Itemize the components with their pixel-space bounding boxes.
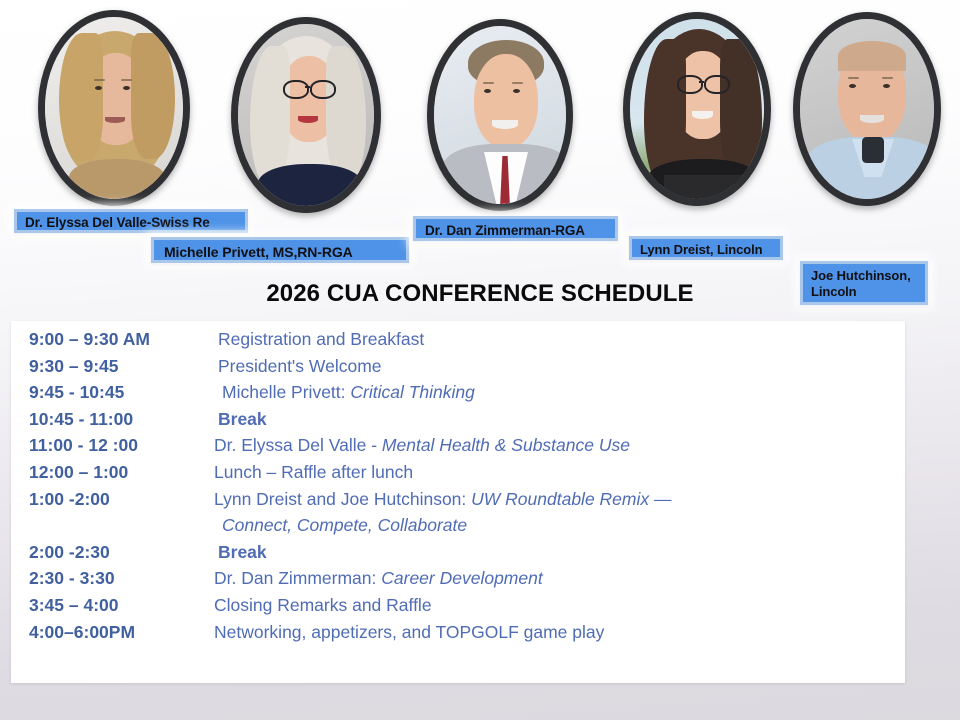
schedule-time: 9:30 – 9:45 (20, 356, 210, 377)
schedule-rows: 9:00 – 9:30 AMRegistration and Breakfast… (20, 329, 899, 648)
schedule-session-title: UW Roundtable Remix — (471, 489, 671, 509)
schedule-description: Lynn Dreist and Joe Hutchinson: UW Round… (210, 489, 672, 510)
schedule-session-title: Connect, Compete, Collaborate (222, 515, 467, 535)
schedule-row: 1:00 -2:00Lynn Dreist and Joe Hutchinson… (20, 489, 899, 516)
page-title: 2026 CUA CONFERENCE SCHEDULE (0, 280, 960, 308)
schedule-desc-text: Lynn Dreist and Joe Hutchinson: (214, 489, 471, 509)
speaker-photo-4 (623, 12, 771, 206)
schedule-row: 4:00–6:00PMNetworking, appetizers, and T… (20, 622, 899, 649)
schedule-desc-text: Dr. Elyssa Del Valle - (214, 435, 382, 455)
speaker-badge-2: Michelle Privett, MS,RN-RGA (151, 237, 409, 263)
schedule-time: 12:00 – 1:00 (20, 462, 210, 483)
schedule-time: 3:45 – 4:00 (20, 595, 210, 616)
schedule-session-title: Mental Health & Substance Use (382, 435, 630, 455)
schedule-row: 12:00 – 1:00Lunch – Raffle after lunch (20, 462, 899, 489)
schedule-description: Michelle Privett: Critical Thinking (210, 382, 475, 403)
schedule-row: 11:00 - 12 :00Dr. Elyssa Del Valle - Men… (20, 435, 899, 462)
speaker-badge-4: Lynn Dreist, Lincoln (629, 236, 783, 260)
schedule-desc-text: Break (218, 409, 267, 429)
speaker-photo-row (0, 0, 960, 225)
schedule-time: 11:00 - 12 :00 (20, 435, 210, 456)
schedule-description: Break (210, 409, 267, 430)
schedule-session-title: Career Development (381, 568, 542, 588)
schedule-session-title: Critical Thinking (350, 382, 474, 402)
schedule-description: Closing Remarks and Raffle (210, 595, 432, 616)
speaker-photo-5 (793, 12, 941, 206)
schedule-row: 9:45 - 10:45Michelle Privett: Critical T… (20, 382, 899, 409)
schedule-time: 9:45 - 10:45 (20, 382, 210, 403)
schedule-time: 10:45 - 11:00 (20, 409, 210, 430)
schedule-description: Lunch – Raffle after lunch (210, 462, 413, 483)
schedule-row: 10:45 - 11:00Break (20, 409, 899, 436)
schedule-desc-text: Networking, appetizers, and TOPGOLF game… (214, 622, 604, 642)
speaker-photo-3 (427, 19, 573, 211)
conference-schedule-slide: Dr. Elyssa Del Valle-Swiss Re Michelle P… (0, 0, 960, 720)
schedule-description: Networking, appetizers, and TOPGOLF game… (210, 622, 604, 643)
speaker-photo-1 (38, 10, 190, 206)
schedule-time: 4:00–6:00PM (20, 622, 210, 643)
speaker-badge-1: Dr. Elyssa Del Valle-Swiss Re (14, 209, 248, 233)
schedule-row: 3:45 – 4:00Closing Remarks and Raffle (20, 595, 899, 622)
schedule-description: Dr. Dan Zimmerman: Career Development (210, 568, 543, 589)
schedule-row: 2:30 - 3:30Dr. Dan Zimmerman: Career Dev… (20, 568, 899, 595)
schedule-card: 9:00 – 9:30 AMRegistration and Breakfast… (11, 321, 905, 683)
schedule-desc-text: Registration and Breakfast (218, 329, 424, 349)
schedule-desc-text: Closing Remarks and Raffle (214, 595, 432, 615)
schedule-description: Dr. Elyssa Del Valle - Mental Health & S… (210, 435, 630, 456)
schedule-row: 9:00 – 9:30 AMRegistration and Breakfast (20, 329, 899, 356)
schedule-desc-text: Break (218, 542, 267, 562)
schedule-description: Registration and Breakfast (210, 329, 424, 350)
schedule-time: 9:00 – 9:30 AM (20, 329, 210, 350)
schedule-row: 9:30 – 9:45President's Welcome (20, 356, 899, 383)
schedule-row: Connect, Compete, Collaborate (20, 515, 899, 542)
schedule-time: 2:30 - 3:30 (20, 568, 210, 589)
schedule-desc-text: Dr. Dan Zimmerman: (214, 568, 381, 588)
schedule-time: 1:00 -2:00 (20, 489, 210, 510)
schedule-description: Connect, Compete, Collaborate (210, 515, 467, 536)
schedule-time: 2:00 -2:30 (20, 542, 210, 563)
schedule-desc-text: President's Welcome (218, 356, 382, 376)
speaker-badge-3: Dr. Dan Zimmerman-RGA (413, 216, 618, 241)
schedule-desc-text: Lunch – Raffle after lunch (214, 462, 413, 482)
schedule-description: Break (210, 542, 267, 563)
schedule-desc-text: Michelle Privett: (222, 382, 350, 402)
schedule-row: 2:00 -2:30Break (20, 542, 899, 569)
speaker-photo-2 (231, 17, 381, 213)
schedule-description: President's Welcome (210, 356, 382, 377)
